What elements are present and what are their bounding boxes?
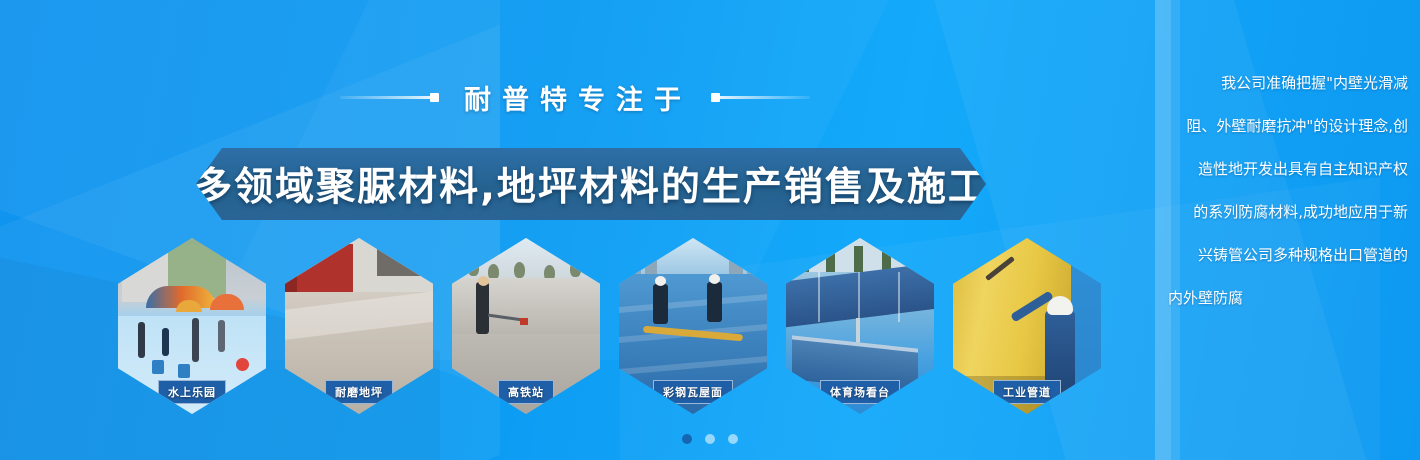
thumbnail-industrial-pipeline[interactable]: 工业管道 (953, 238, 1101, 414)
carousel-dot-2[interactable] (705, 434, 715, 444)
thumbnail-high-speed-rail-station[interactable]: 高铁站 (452, 238, 600, 414)
company-description: 我公司准确把握"内壁光滑减 阻、外壁耐磨抗冲"的设计理念,创 造性地开发出具有自… (1168, 76, 1408, 306)
thumbnail-label: 工业管道 (993, 380, 1061, 404)
description-line: 的系列防腐材料,成功地应用于新 (1168, 205, 1408, 220)
thumbnail-label: 彩钢瓦屋面 (653, 380, 733, 404)
description-line: 内外壁防腐 (1168, 291, 1408, 306)
description-line: 我公司准确把握"内壁光滑减 (1168, 76, 1408, 91)
carousel-dot-1[interactable] (682, 434, 692, 444)
promotional-banner: 耐普特专注于 多领域聚脲材料,地坪材料的生产销售及施工 水上乐园 耐磨地坪 (0, 0, 1420, 460)
headline-rule-right (714, 96, 810, 99)
thumbnail-stadium-stand[interactable]: 体育场看台 (786, 238, 934, 414)
description-line: 兴铸管公司多种规格出口管道的 (1168, 248, 1408, 263)
page-title: 多领域聚脲材料,地坪材料的生产销售及施工 (193, 156, 989, 212)
thumbnail-wear-resistant-floor[interactable]: 耐磨地坪 (285, 238, 433, 414)
title-banner-shape: 多领域聚脲材料,地坪材料的生产销售及施工 (196, 148, 986, 220)
thumbnail-water-park[interactable]: 水上乐园 (118, 238, 266, 414)
carousel-dots (682, 434, 738, 444)
thumbnail-label: 耐磨地坪 (325, 380, 393, 404)
thumbnail-color-steel-tile-roof[interactable]: 彩钢瓦屋面 (619, 238, 767, 414)
thumbnail-label: 体育场看台 (820, 380, 900, 404)
rule-nub-right-icon (711, 93, 720, 102)
thumbnail-row: 水上乐园 耐磨地坪 高铁站 (118, 238, 1128, 416)
headline-row: 耐普特专注于 (0, 78, 1150, 117)
rule-nub-left-icon (430, 93, 439, 102)
headline-text: 耐普特专注于 (458, 78, 692, 117)
thumbnail-label: 高铁站 (498, 380, 554, 404)
description-line: 阻、外壁耐磨抗冲"的设计理念,创 (1168, 119, 1408, 134)
headline-rule-left (340, 96, 436, 99)
carousel-dot-3[interactable] (728, 434, 738, 444)
description-line: 造性地开发出具有自主知识产权 (1168, 162, 1408, 177)
thumbnail-label: 水上乐园 (158, 380, 226, 404)
